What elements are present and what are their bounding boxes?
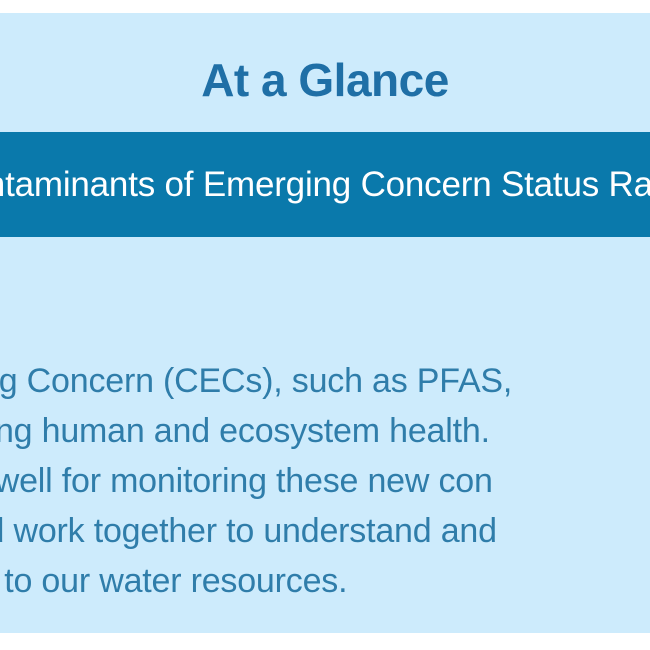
section-banner-label: Contaminants of Emerging Concern Status … [0,132,650,237]
body-line: mpacting human and ecosystem health. [0,406,650,456]
page-title: At a Glance [0,57,650,103]
body-line: s pose to our water resources. [0,556,650,606]
body-line: ols and work together to understand and [0,506,650,556]
body-line: t work well for monitoring these new con [0,456,650,506]
body-paragraph: merging Concern (CECs), such as PFAS, mp… [0,356,650,606]
section-banner: Contaminants of Emerging Concern Status … [0,132,650,237]
body-line: merging Concern (CECs), such as PFAS, [0,356,650,406]
at-a-glance-panel: At a Glance Contaminants of Emerging Con… [0,13,650,633]
screenshot-root: At a Glance Contaminants of Emerging Con… [0,0,650,650]
